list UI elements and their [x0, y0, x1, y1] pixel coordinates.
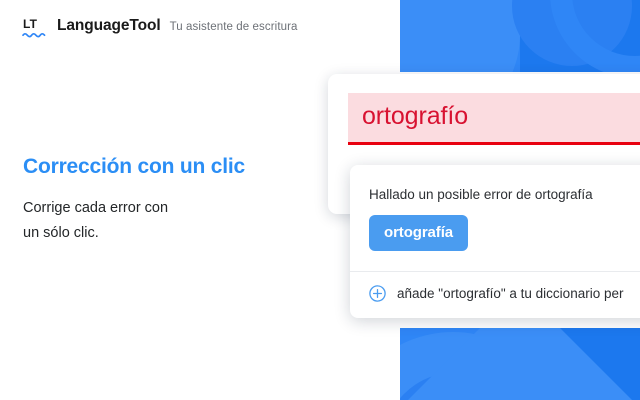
- suggestion-popup: Hallado un posible error de ortografía o…: [350, 165, 640, 318]
- hero-subcopy: Corrige cada error con un sólo clic.: [23, 196, 168, 246]
- plus-circle-icon: [369, 285, 386, 302]
- page-title: Corrección con un clic: [23, 155, 245, 179]
- suggestion-replacement-button[interactable]: ortografía: [369, 215, 468, 251]
- decorative-blue-panel-bottom: [400, 328, 640, 400]
- brand-name: LanguageTool: [57, 17, 161, 35]
- brand-header: LT LanguageTool Tu asistente de escritur…: [22, 17, 298, 39]
- hero-subcopy-line-1: Corrige cada error con: [23, 196, 168, 221]
- brand-tagline: Tu asistente de escritura: [170, 21, 298, 33]
- spelling-error-highlight[interactable]: ortografío: [348, 93, 640, 145]
- panel-circle-light: [400, 0, 520, 72]
- add-to-dictionary-label: añade "ortografío" a tu diccionario per: [397, 286, 623, 301]
- logo-monogram: LT: [23, 17, 37, 31]
- suggestion-message: Hallado un posible error de ortografía: [350, 165, 640, 202]
- logo-squiggle-icon: [22, 31, 48, 38]
- languagetool-logo-icon: LT: [22, 17, 48, 39]
- decorative-blue-panel-top: [400, 0, 640, 72]
- hero-subcopy-line-2: un sólo clic.: [23, 221, 168, 246]
- add-to-dictionary-row[interactable]: añade "ortografío" a tu diccionario per: [350, 272, 640, 318]
- misspelled-word[interactable]: ortografío: [362, 102, 468, 131]
